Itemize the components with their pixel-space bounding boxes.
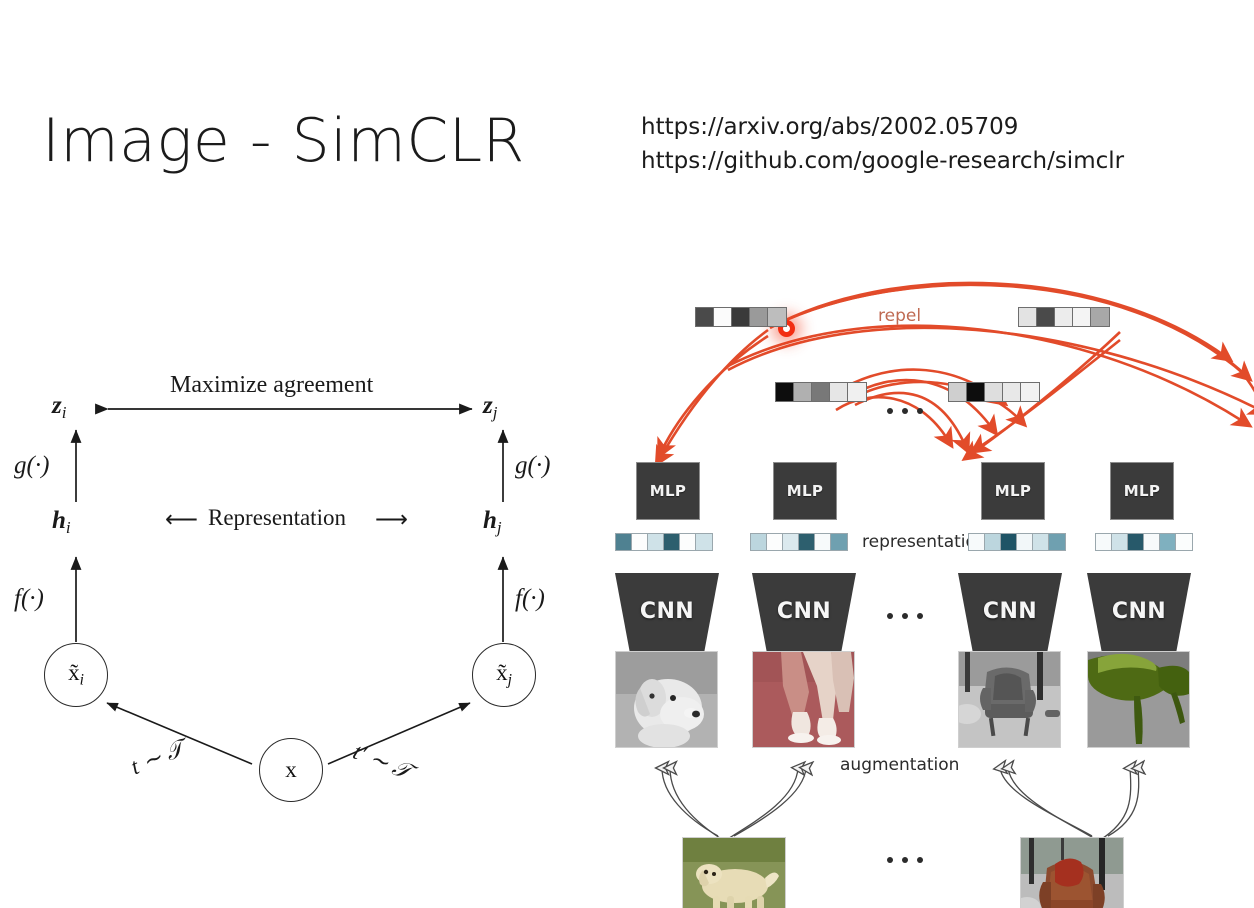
x-tilde-i-node: x̃i bbox=[44, 643, 108, 707]
reference-links: https://arxiv.org/abs/2002.05709 https:/… bbox=[641, 110, 1124, 178]
maximize-agreement-label: Maximize agreement bbox=[170, 372, 373, 399]
g-function-right-label: g(·) bbox=[515, 452, 550, 480]
source-image-chair bbox=[1020, 837, 1124, 908]
h-j-label: hj bbox=[483, 507, 502, 538]
f-function-right-label: f(·) bbox=[515, 585, 545, 613]
simclr-framework-diagram: Maximize agreement zi zj g(·) g(·) hi hj… bbox=[0, 360, 600, 840]
augmentation-arrows bbox=[600, 270, 1254, 908]
slide-canvas: Image - SimCLR https://arxiv.org/abs/200… bbox=[0, 0, 1254, 908]
source-image-dog bbox=[682, 837, 786, 908]
x-tilde-j-node: x̃j bbox=[472, 643, 536, 707]
representation-arrow-right: ⟶ bbox=[375, 507, 408, 533]
z-i-label: zi bbox=[52, 392, 66, 423]
brown-leather-armchair bbox=[1021, 838, 1123, 908]
simclr-batch-pipeline: repel bbox=[600, 270, 1254, 908]
github-link[interactable]: https://github.com/google-research/simcl… bbox=[641, 144, 1124, 178]
z-j-label: zj bbox=[483, 392, 497, 423]
h-i-label: hi bbox=[52, 507, 71, 538]
arxiv-link[interactable]: https://arxiv.org/abs/2002.05709 bbox=[641, 110, 1124, 144]
page-title: Image - SimCLR bbox=[42, 104, 525, 178]
f-function-left-label: f(·) bbox=[14, 585, 44, 613]
augmentation-caption: augmentation bbox=[840, 755, 959, 775]
x-source-node: x bbox=[259, 738, 323, 802]
g-function-left-label: g(·) bbox=[14, 452, 49, 480]
representation-label: Representation bbox=[208, 505, 346, 531]
representation-arrow-left: ⟵ bbox=[165, 507, 198, 533]
yellow-labrador-on-grass bbox=[683, 838, 785, 908]
source-row-ellipsis bbox=[887, 857, 923, 863]
